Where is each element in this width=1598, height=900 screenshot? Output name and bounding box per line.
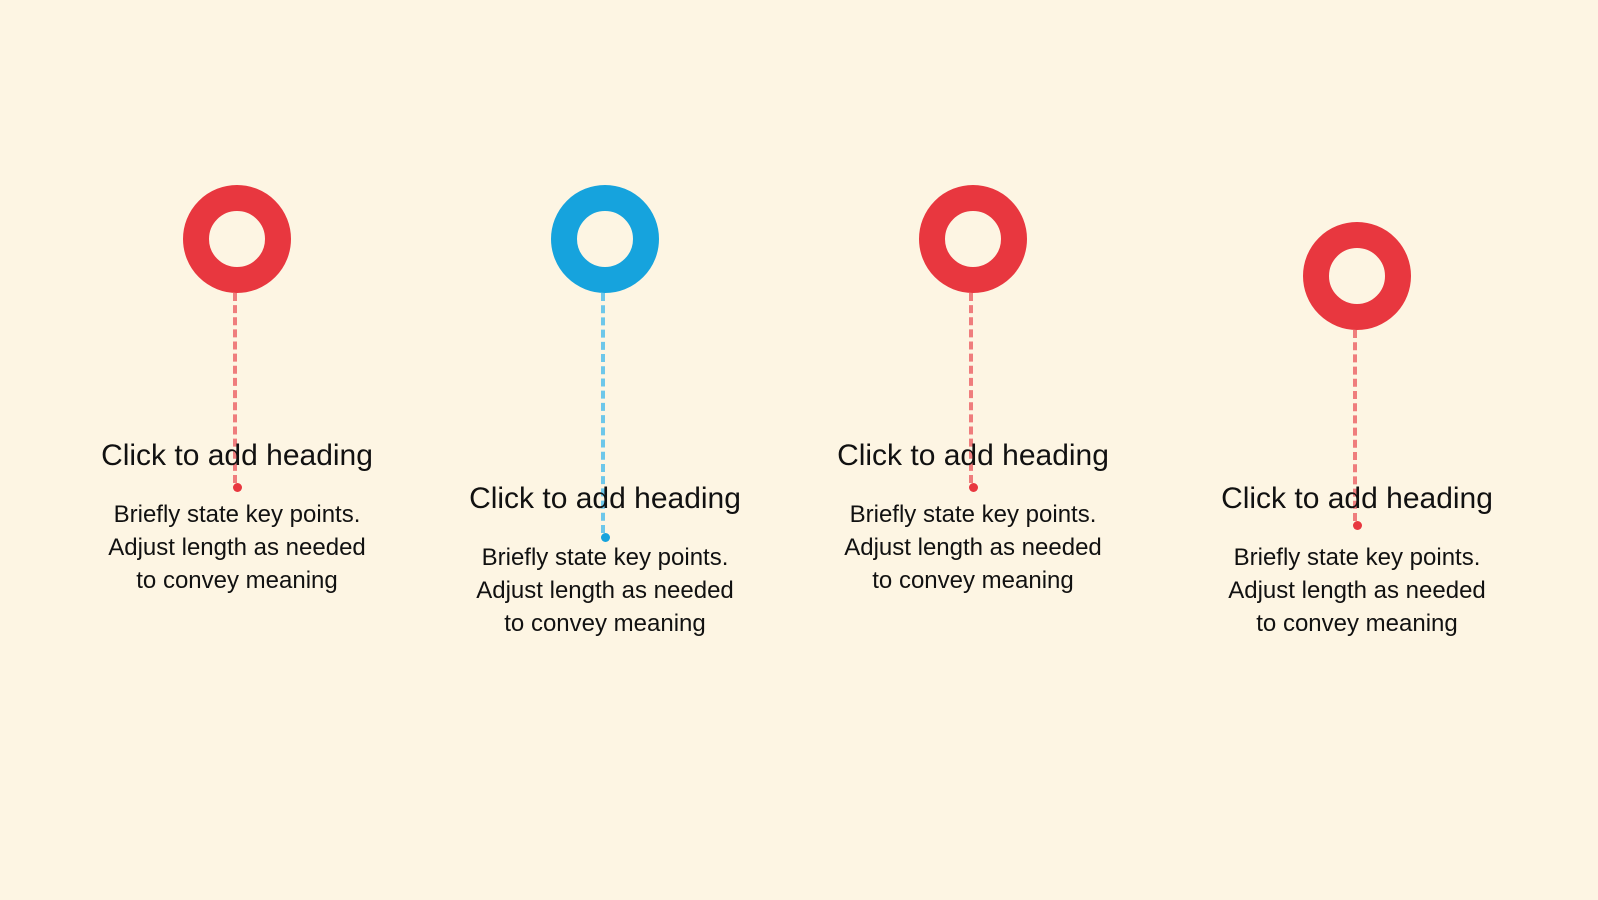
ring-marker-icon [1303,222,1411,330]
body-placeholder-2[interactable]: Briefly state key points. Adjust length … [435,541,775,640]
heading-placeholder-4[interactable]: Click to add heading [1187,481,1527,517]
text-block-column-3: Click to add headingBriefly state key po… [803,438,1143,597]
heading-placeholder-1[interactable]: Click to add heading [67,438,407,474]
text-block-column-2: Click to add headingBriefly state key po… [435,481,775,640]
heading-placeholder-3[interactable]: Click to add heading [803,438,1143,474]
ring-marker-icon [919,185,1027,293]
infographic-column-1: Click to add headingBriefly state key po… [67,0,407,900]
ring-marker-icon [183,185,291,293]
body-placeholder-4[interactable]: Briefly state key points. Adjust length … [1187,541,1527,640]
text-block-column-1: Click to add headingBriefly state key po… [67,438,407,597]
infographic-column-2: Click to add headingBriefly state key po… [435,0,775,900]
body-placeholder-3[interactable]: Briefly state key points. Adjust length … [803,498,1143,597]
infographic-column-3: Click to add headingBriefly state key po… [803,0,1143,900]
body-placeholder-1[interactable]: Briefly state key points. Adjust length … [67,498,407,597]
infographic-column-4: Click to add headingBriefly state key po… [1187,0,1527,900]
slide-canvas: Click to add headingBriefly state key po… [0,0,1598,900]
text-block-column-4: Click to add headingBriefly state key po… [1187,481,1527,640]
heading-placeholder-2[interactable]: Click to add heading [435,481,775,517]
ring-marker-icon [551,185,659,293]
